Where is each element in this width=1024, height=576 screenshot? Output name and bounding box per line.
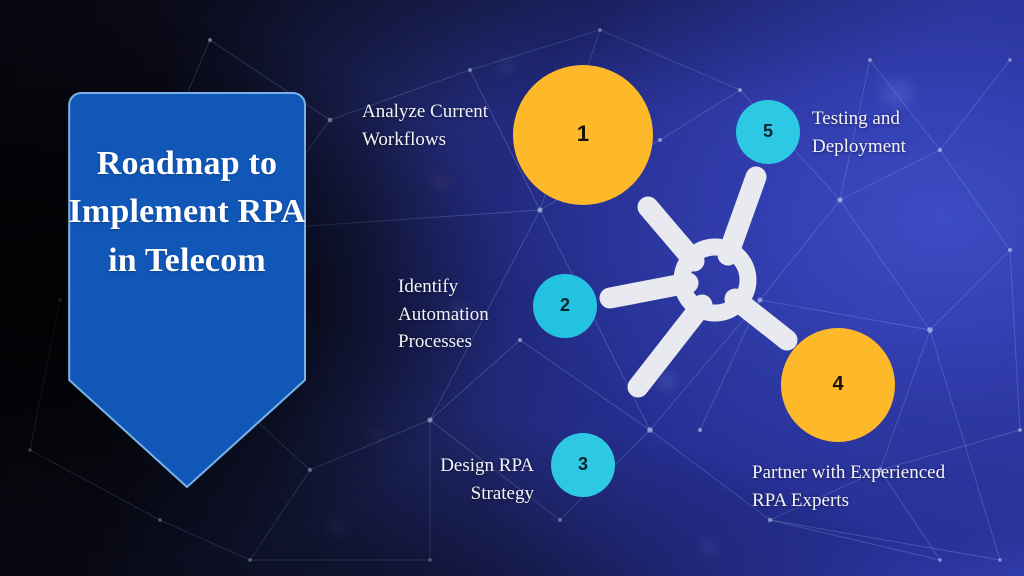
slide-canvas: Roadmap to Implement RPA in Telecom 1 2 … [0,0,1024,576]
step-number-2: 2 [560,295,570,316]
step-number-4: 4 [832,373,843,396]
step-circle-1[interactable]: 1 [513,65,653,205]
step-circle-5[interactable]: 5 [736,100,800,164]
step-number-1: 1 [577,121,589,147]
step-number-3: 3 [578,454,588,475]
step-number-5: 5 [763,121,773,142]
banner-title: Roadmap to Implement RPA in Telecom [68,140,306,285]
step-label-2: Identify Automation Processes [398,273,520,356]
title-banner: Roadmap to Implement RPA in Telecom [68,92,306,488]
step-circle-2[interactable]: 2 [533,274,597,338]
step-circle-4[interactable]: 4 [781,328,895,442]
step-circle-3[interactable]: 3 [551,433,615,497]
step-label-5: Testing and Deployment [812,105,1002,160]
step-label-1: Analyze Current Workflows [362,98,512,153]
step-label-4: Partner with Experienced RPA Experts [752,459,992,514]
step-label-3: Design RPA Strategy [406,452,534,507]
